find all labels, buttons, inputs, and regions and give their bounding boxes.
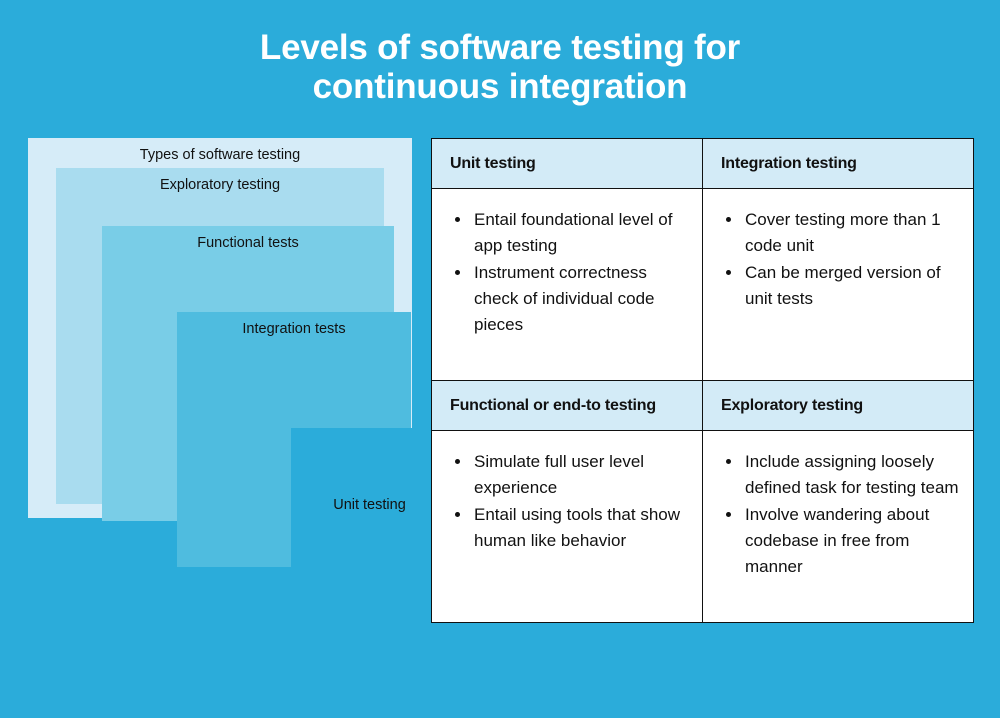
diagram-layer-label: Integration tests [177, 312, 411, 338]
list-item: Can be merged version of unit tests [743, 260, 961, 312]
list-item: Entail foundational level of app testing [472, 207, 690, 259]
nested-testing-levels-diagram: Types of software testing Exploratory te… [28, 138, 412, 518]
table-cell-functional-testing: Simulate full user level experience Enta… [432, 431, 703, 623]
table-cell-integration-testing: Cover testing more than 1 code unit Can … [703, 189, 974, 381]
diagram-layer-label: Exploratory testing [56, 168, 384, 194]
table-row: Unit testing Integration testing [432, 139, 974, 189]
table-row: Functional or end-to testing Exploratory… [432, 381, 974, 431]
table-row: Entail foundational level of app testing… [432, 189, 974, 381]
page-title: Levels of software testing for continuou… [0, 28, 1000, 106]
diagram-layer-functional-tests: Functional tests Integration tests Unit … [102, 226, 394, 521]
bullet-list: Simulate full user level experience Enta… [432, 431, 702, 554]
list-item: Cover testing more than 1 code unit [743, 207, 961, 259]
table-header-unit-testing: Unit testing [432, 139, 703, 189]
list-item: Simulate full user level experience [472, 449, 690, 501]
table-header-integration-testing: Integration testing [703, 139, 974, 189]
page-title-line-2: continuous integration [0, 67, 1000, 106]
page-title-line-1: Levels of software testing for [0, 28, 1000, 67]
list-item: Involve wandering about codebase in free… [743, 502, 961, 580]
table-cell-exploratory-testing: Include assigning loosely defined task f… [703, 431, 974, 623]
table-header-exploratory-testing: Exploratory testing [703, 381, 974, 431]
list-item: Instrument correctness check of individu… [472, 260, 690, 338]
table-row: Simulate full user level experience Enta… [432, 431, 974, 623]
diagram-layer-label: Unit testing [291, 428, 448, 514]
bullet-list: Cover testing more than 1 code unit Can … [703, 189, 973, 312]
list-item: Include assigning loosely defined task f… [743, 449, 961, 501]
table-header-functional-testing: Functional or end-to testing [432, 381, 703, 431]
diagram-layer-label: Types of software testing [28, 138, 412, 164]
testing-levels-table: Unit testing Integration testing Entail … [431, 138, 974, 623]
list-item: Entail using tools that show human like … [472, 502, 690, 554]
diagram-layer-unit-testing: Unit testing [291, 428, 448, 718]
diagram-layer-types-of-software-testing: Types of software testing Exploratory te… [28, 138, 412, 518]
bullet-list: Entail foundational level of app testing… [432, 189, 702, 338]
diagram-layer-label: Functional tests [102, 226, 394, 252]
diagram-layer-integration-tests: Integration tests Unit testing [177, 312, 411, 567]
bullet-list: Include assigning loosely defined task f… [703, 431, 973, 580]
table-cell-unit-testing: Entail foundational level of app testing… [432, 189, 703, 381]
diagram-layer-exploratory-testing: Exploratory testing Functional tests Int… [56, 168, 384, 504]
